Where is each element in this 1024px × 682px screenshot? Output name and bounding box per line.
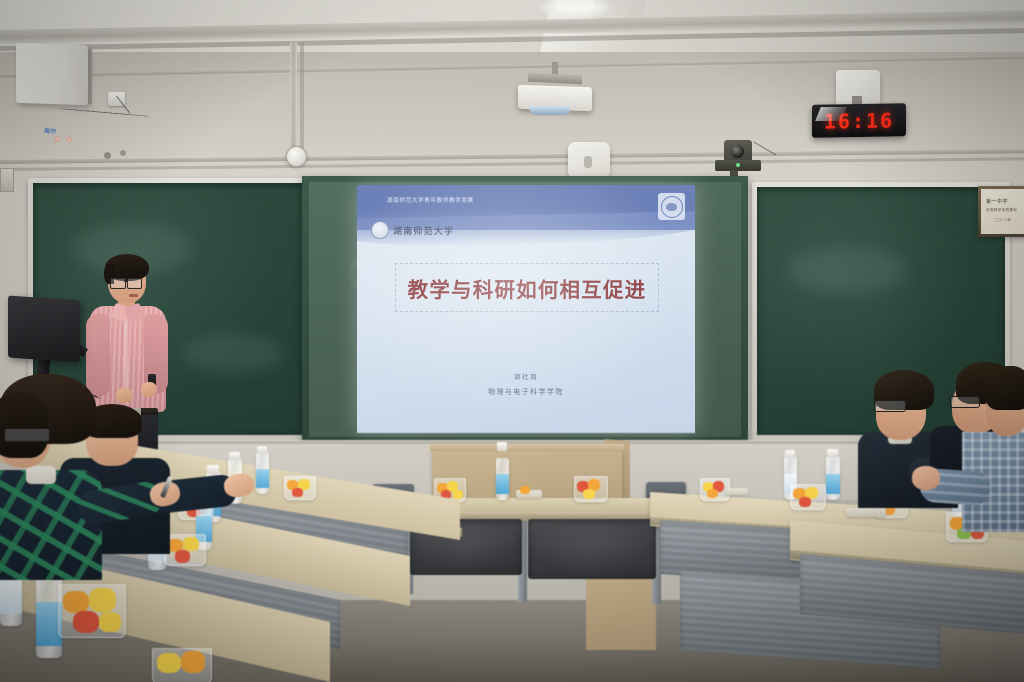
heater-brand-label: 海尔 (44, 126, 57, 135)
water-bottle (256, 452, 269, 494)
wall-hole (104, 152, 111, 159)
camera-status-led (736, 163, 740, 167)
fruit-cup (790, 484, 826, 510)
wall-pipe-shadow (300, 42, 304, 160)
wifi-ap-indicator (584, 156, 592, 168)
fruit-cup (164, 534, 206, 566)
lectern-monitor[interactable] (8, 295, 80, 362)
presenter-glasses-bridge (124, 281, 128, 282)
sign-line-3: 二〇一八年 (994, 217, 1011, 222)
attendee-right-1-glasses (874, 400, 906, 412)
fruit-piece (520, 486, 530, 494)
plate (726, 488, 748, 495)
classroom-photo: 海尔 16:16 第一中学 (0, 0, 1024, 682)
presentation-slide: 湖南师范大学青年教师教学竞赛 湖南师范大学 教学与科研如何相互促进 郭社周 物理… (357, 185, 695, 433)
fruit-cup (284, 476, 316, 500)
presenter-left-arm (86, 314, 110, 396)
wall-certificate-sign: 第一中学 优秀教学实践基地 二〇一八年 (978, 186, 1024, 237)
analog-wall-clock-icon (286, 146, 307, 167)
water-bottle (826, 456, 840, 500)
bottle-cap (229, 452, 240, 460)
attendee-left-1-sweater (0, 470, 102, 580)
wall-pipe (290, 42, 297, 162)
attendee-right-3-hair (986, 366, 1024, 410)
bottle-cap (207, 465, 219, 474)
bottle-cap (827, 449, 838, 457)
presenter-glasses-left-lens (110, 278, 126, 289)
presenter-left-hand (116, 388, 133, 403)
attendee-right-3-hand (912, 466, 940, 490)
fruit-cup (574, 476, 608, 502)
projector-lens (530, 106, 570, 115)
attendee-left-1-hair-side (0, 392, 48, 458)
bottle-cap (785, 450, 795, 458)
bottle-cap (257, 446, 267, 454)
sign-line-2: 优秀教学实践基地 (986, 208, 1017, 213)
bottle-cap (497, 442, 507, 451)
presenter-glasses-right-lens (127, 278, 142, 289)
wall-hole (120, 150, 126, 156)
plate (846, 508, 886, 517)
attendee-left-1-collar (26, 466, 56, 484)
presenter-right-hand (141, 382, 157, 397)
attendee-right-2-glasses (950, 396, 980, 408)
wall-small-frame (0, 168, 14, 192)
fruit-cup (58, 584, 126, 638)
cardboard-box-lip (430, 444, 624, 451)
water-bottle (496, 458, 509, 500)
heater-button-1[interactable] (54, 136, 60, 142)
slide-projector-glow (357, 185, 695, 433)
wall-water-heater: 海尔 (16, 43, 88, 106)
attendee-left-1-glasses (4, 428, 50, 442)
ceiling-light-fixture (556, 0, 594, 11)
camera-lens-icon (731, 145, 744, 158)
heater-button-2[interactable] (66, 136, 72, 142)
fruit-cup (152, 648, 212, 682)
presenter-mouth (129, 294, 138, 297)
center-table-panel (528, 519, 656, 579)
sign-line-1: 第一中学 (986, 198, 1008, 205)
